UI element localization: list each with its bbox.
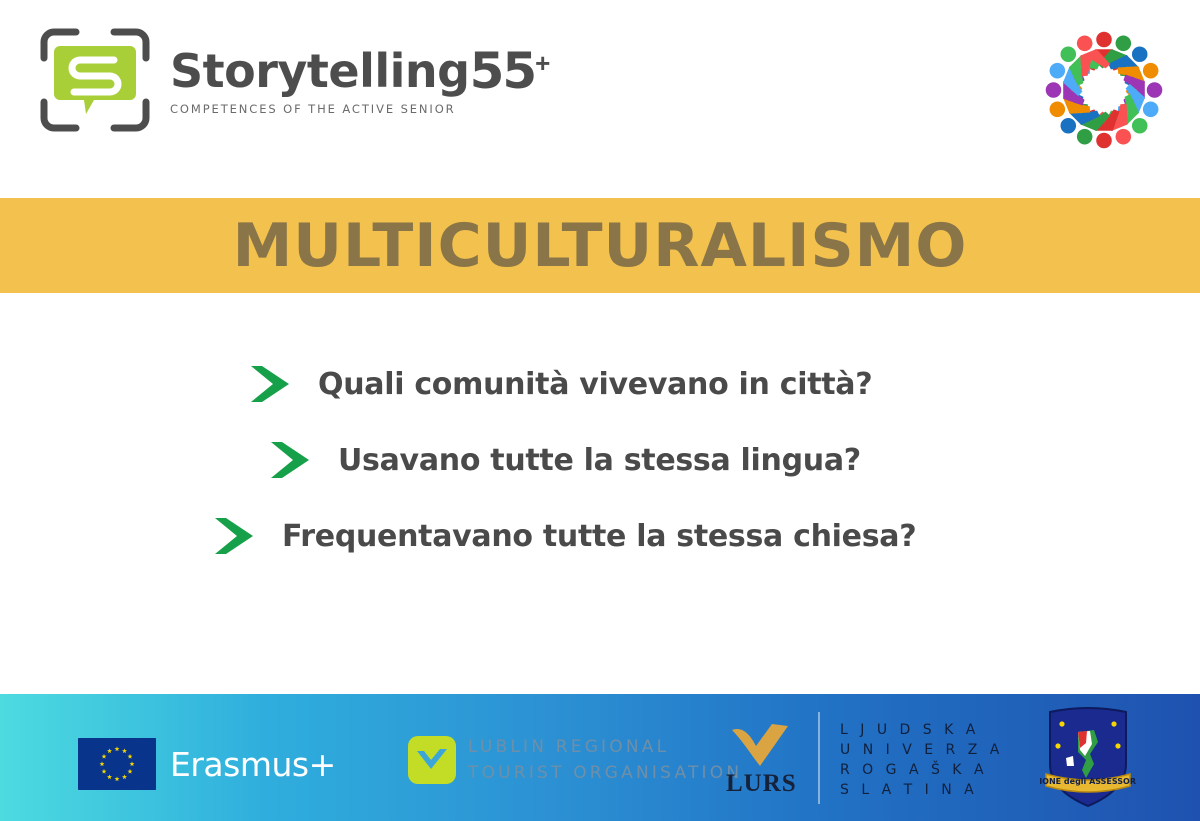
storytelling-speech-bubble-logo-icon	[36, 28, 154, 132]
lu-line-3: R O G A Š K A	[840, 762, 988, 778]
lublin-line-1: Lublin Regional	[468, 737, 742, 757]
assessorati-banner-text: UNIONE degli ASSESSORATI	[1040, 777, 1136, 786]
question-text: Usavano tutte la stessa lingua?	[338, 443, 861, 478]
list-item: Usavano tutte la stessa lingua?	[0, 439, 1200, 481]
lublin-checkmark-icon	[408, 736, 456, 784]
brand-wordmark: Storytelling55+ COMPETENCES OF THE ACTIV…	[170, 48, 550, 116]
brand-number: 55	[470, 48, 536, 96]
footer-divider	[818, 712, 820, 804]
lu-line-1: L J U D S K A	[840, 722, 979, 738]
lublin-text: Lublin Regional Tourist Organisation	[468, 737, 742, 783]
lurs-label: LURS	[726, 770, 797, 798]
people-circle-diversity-icon	[1036, 22, 1172, 158]
slide-header: Storytelling55+ COMPETENCES OF THE ACTIV…	[0, 0, 1200, 198]
green-chevron-arrow-icon	[212, 515, 256, 557]
brand-tagline: COMPETENCES OF THE ACTIVE SENIOR	[170, 102, 550, 116]
lublin-logo: Lublin Regional Tourist Organisation	[408, 736, 742, 784]
green-chevron-arrow-icon	[268, 439, 312, 481]
ljudska-univerza-text: L J U D S K A U N I V E R Z A R O G A Š …	[840, 722, 1003, 798]
list-item: Quali comunità vivevano in città?	[0, 363, 1200, 405]
green-chevron-arrow-icon	[248, 363, 292, 405]
question-text: Quali comunità vivevano in città?	[318, 367, 872, 402]
slide-footer: Erasmus+ Lublin Regional Tourist Organis…	[0, 694, 1200, 821]
assessorati-logo: UNIONE degli ASSESSORATI	[1040, 706, 1136, 810]
lu-line-2: U N I V E R Z A	[840, 742, 1003, 758]
slide-root: Storytelling55+ COMPETENCES OF THE ACTIV…	[0, 0, 1200, 821]
storytelling-brand-logo: Storytelling55+ COMPETENCES OF THE ACTIV…	[36, 28, 550, 132]
lu-line-4: S L A T I N A	[840, 782, 978, 798]
european-union-flag-icon	[78, 738, 156, 790]
slide-body: Quali comunità vivevano in città? Usavan…	[0, 293, 1200, 694]
question-text: Frequentavano tutte la stessa chiesa?	[282, 519, 916, 554]
lublin-line-2: Tourist Organisation	[468, 763, 742, 783]
brand-plus: +	[535, 48, 550, 79]
title-band: MULTICULTURALISMO	[0, 198, 1200, 293]
list-item: Frequentavano tutte la stessa chiesa?	[0, 515, 1200, 557]
erasmus-logo: Erasmus+	[78, 738, 336, 790]
brand-word: Storytelling	[170, 48, 470, 94]
erasmus-label: Erasmus+	[170, 745, 336, 784]
question-list: Quali comunità vivevano in città? Usavan…	[0, 363, 1200, 591]
page-title: MULTICULTURALISMO	[233, 211, 968, 281]
lurs-gold-v-icon	[726, 720, 796, 768]
lurs-logo: LURS	[726, 720, 797, 798]
italy-shield-crest-icon: UNIONE degli ASSESSORATI	[1040, 706, 1136, 810]
